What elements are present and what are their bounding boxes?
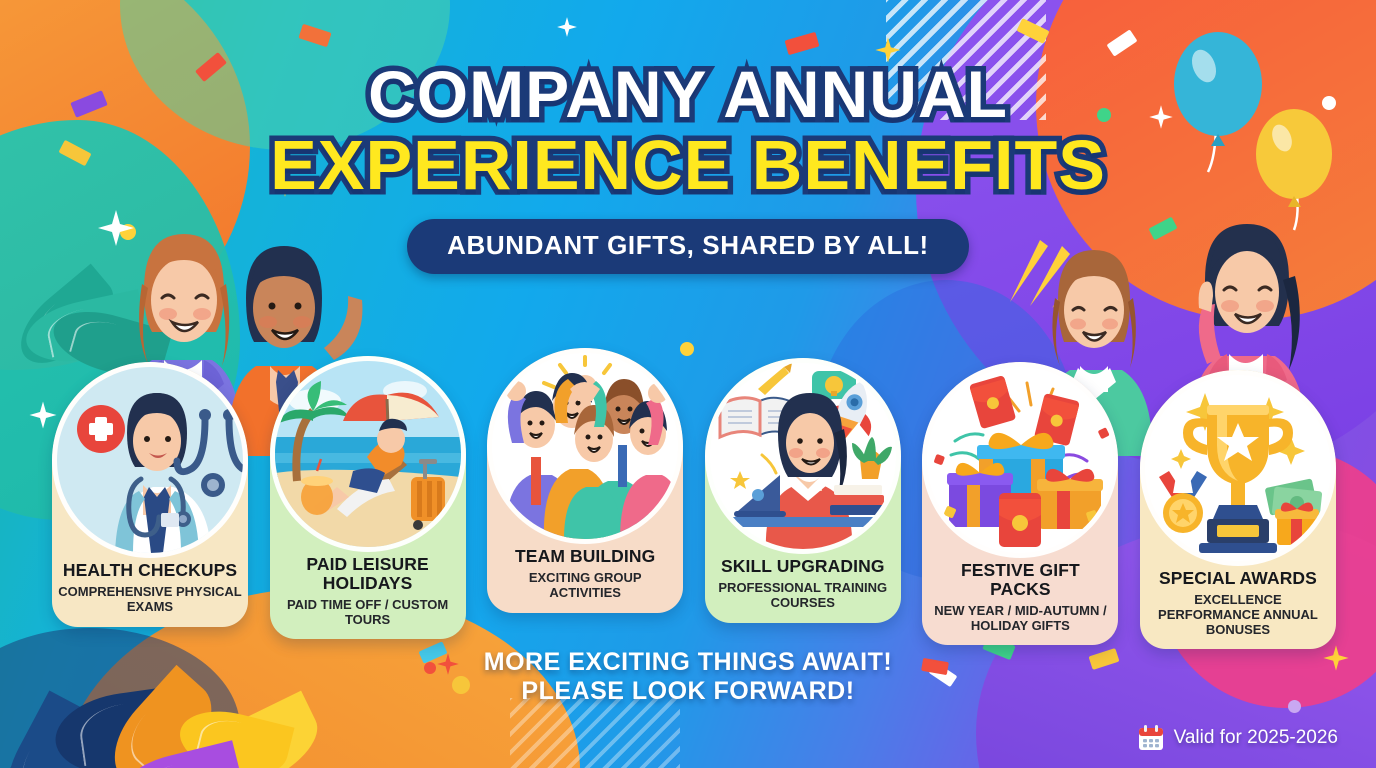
gift-boxes-icon <box>927 367 1113 553</box>
footer-line-1: MORE EXCITING THINGS AWAIT! <box>0 648 1376 677</box>
benefit-card-health-checkups[interactable]: HEALTH CHECKUPS COMPREHENSIVE PHYSICAL E… <box>52 362 248 627</box>
title-line-1: COMPANY ANNUAL <box>0 62 1376 127</box>
card-title: TEAM BUILDING <box>487 547 683 566</box>
benefit-card-skill-upgrading[interactable]: SKILL UPGRADING PROFESSIONAL TRAINING CO… <box>705 358 901 623</box>
trophy-award-icon <box>1145 375 1331 561</box>
card-title: PAID LEISURE HOLIDAYS <box>270 555 466 593</box>
card-description: EXCELLENCE PERFORMANCE ANNUAL BONUSES <box>1140 593 1336 637</box>
headline-block: COMPANY ANNUAL EXPERIENCE BENEFITS ABUND… <box>0 62 1376 274</box>
doctor-stethoscope-icon <box>57 367 243 553</box>
card-description: COMPREHENSIVE PHYSICAL EXAMS <box>52 585 248 615</box>
study-laptop-icon <box>710 363 896 549</box>
beach-vacation-icon <box>275 361 461 547</box>
title-line-2: EXPERIENCE BENEFITS <box>0 131 1376 200</box>
sparkle-icon <box>556 16 578 38</box>
benefit-cards-row: HEALTH CHECKUPS COMPREHENSIVE PHYSICAL E… <box>52 340 1336 649</box>
diagonal-stripes-decor-bottom <box>510 698 680 768</box>
card-description: EXCITING GROUP ACTIVITIES <box>487 571 683 601</box>
benefit-card-special-awards[interactable]: SPECIAL AWARDS EXCELLENCE PERFORMANCE AN… <box>1140 370 1336 649</box>
card-title: FESTIVE GIFT PACKS <box>922 561 1118 599</box>
confetti-piece <box>785 32 820 55</box>
poster-canvas: COMPANY ANNUAL EXPERIENCE BENEFITS ABUND… <box>0 0 1376 768</box>
validity-text: Valid for 2025-2026 <box>1174 727 1338 749</box>
card-title: SKILL UPGRADING <box>705 557 901 576</box>
benefit-card-festive-gift-packs[interactable]: FESTIVE GIFT PACKS NEW YEAR / MID-AUTUMN… <box>922 362 1118 645</box>
card-description: PAID TIME OFF / CUSTOM TOURS <box>270 598 466 628</box>
card-description: NEW YEAR / MID-AUTUMN / HOLIDAY GIFTS <box>922 604 1118 634</box>
benefit-card-paid-leisure-holidays[interactable]: PAID LEISURE HOLIDAYS PAID TIME OFF / CU… <box>270 356 466 639</box>
team-celebration-icon <box>492 353 678 539</box>
validity-badge: Valid for 2025-2026 <box>1137 724 1338 752</box>
footer-line-2: PLEASE LOOK FORWARD! <box>0 677 1376 706</box>
footer-message: MORE EXCITING THINGS AWAIT! PLEASE LOOK … <box>0 648 1376 706</box>
card-description: PROFESSIONAL TRAINING COURSES <box>705 581 901 611</box>
card-title: HEALTH CHECKUPS <box>52 561 248 580</box>
benefit-card-team-building[interactable]: TEAM BUILDING EXCITING GROUP ACTIVITIES <box>487 348 683 613</box>
card-title: SPECIAL AWARDS <box>1140 569 1336 588</box>
calendar-icon <box>1137 724 1165 752</box>
subtitle-pill: ABUNDANT GIFTS, SHARED BY ALL! <box>407 219 969 274</box>
